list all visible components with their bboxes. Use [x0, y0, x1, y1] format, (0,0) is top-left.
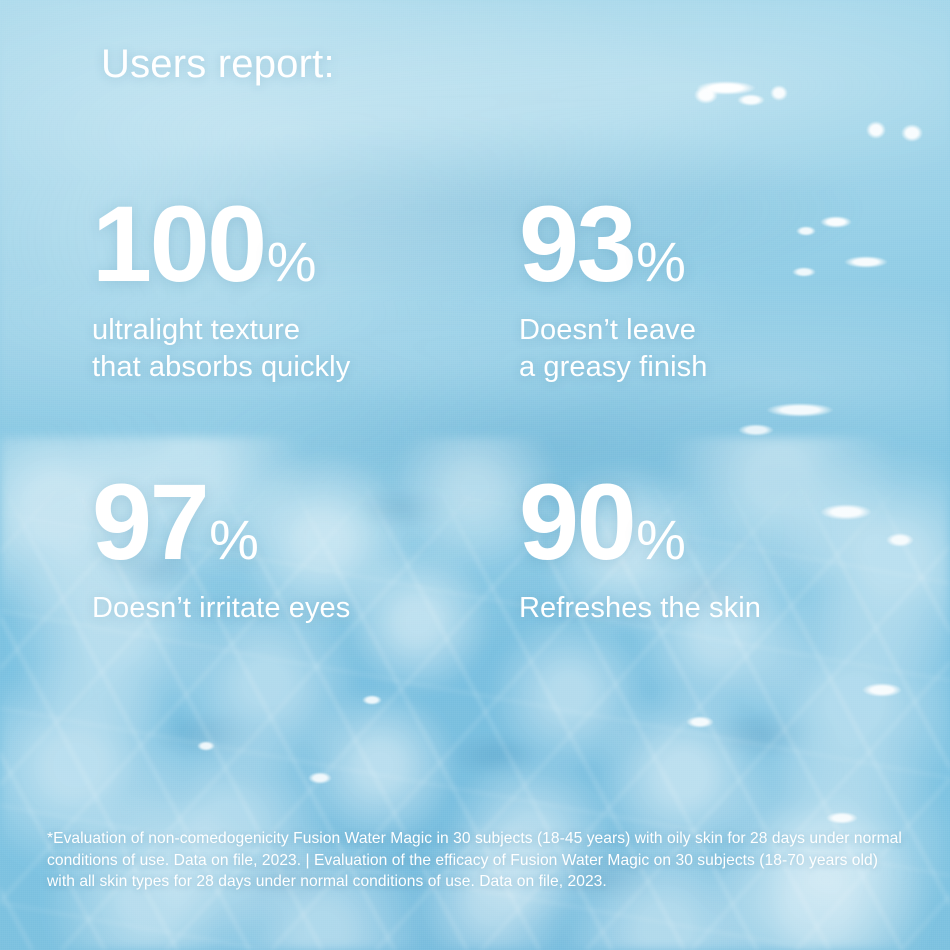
- stat-figure: 90 %: [519, 468, 949, 576]
- stat-caption: ultralight texture that absorbs quickly: [92, 312, 522, 385]
- page-title: Users report:: [101, 44, 335, 84]
- stat-caption: Refreshes the skin: [519, 590, 949, 627]
- footnote-disclaimer: *Evaluation of non-comedogenicity Fusion…: [47, 828, 909, 893]
- stat-figure: 100 %: [92, 190, 522, 298]
- stat-percent-symbol: %: [636, 234, 686, 290]
- stat-number: 90: [519, 468, 634, 576]
- stat-block-no-eye-irritation: 97 % Doesn’t irritate eyes: [92, 468, 522, 627]
- stat-number: 97: [92, 468, 207, 576]
- stat-block-refreshes-skin: 90 % Refreshes the skin: [519, 468, 949, 627]
- stat-number: 93: [519, 190, 634, 298]
- stat-figure: 93 %: [519, 190, 949, 298]
- stat-percent-symbol: %: [267, 234, 317, 290]
- stat-block-ultralight-texture: 100 % ultralight texture that absorbs qu…: [92, 190, 522, 385]
- stat-figure: 97 %: [92, 468, 522, 576]
- stat-percent-symbol: %: [636, 512, 686, 568]
- content-overlay: Users report: 100 % ultralight texture t…: [0, 0, 950, 950]
- stat-caption: Doesn’t leave a greasy finish: [519, 312, 949, 385]
- stat-block-no-greasy-finish: 93 % Doesn’t leave a greasy finish: [519, 190, 949, 385]
- stat-percent-symbol: %: [209, 512, 259, 568]
- infographic-canvas: Users report: 100 % ultralight texture t…: [0, 0, 950, 950]
- stat-number: 100: [92, 190, 265, 298]
- stat-caption: Doesn’t irritate eyes: [92, 590, 522, 627]
